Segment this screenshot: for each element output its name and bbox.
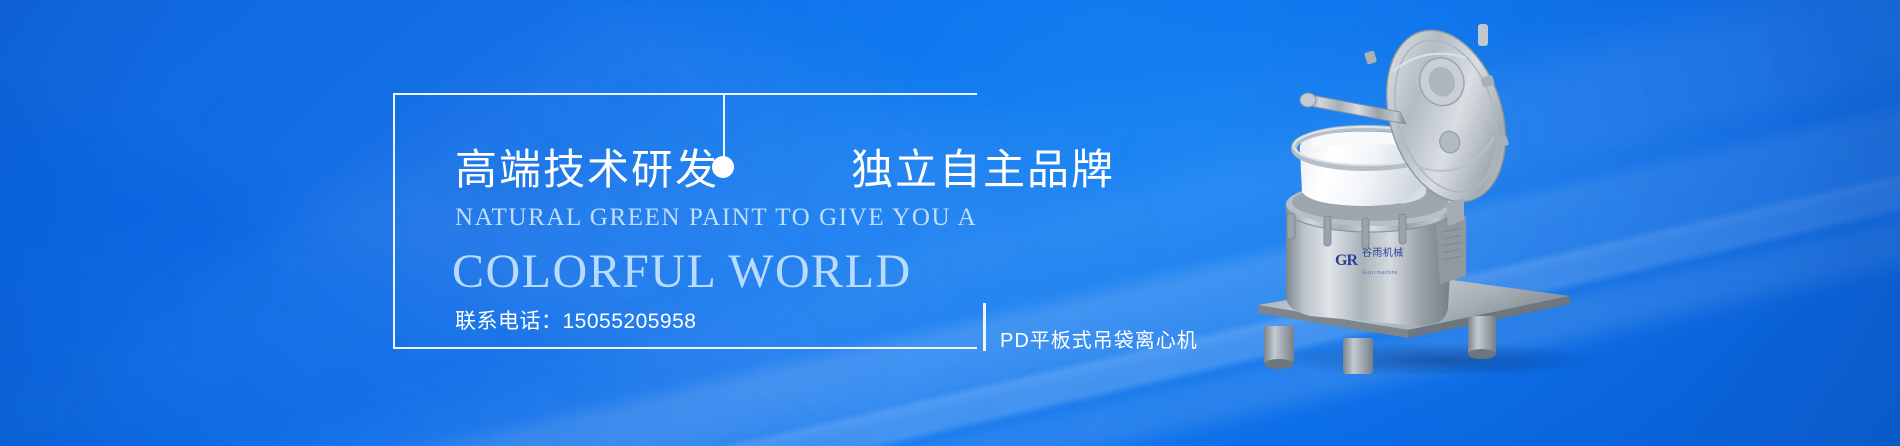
brand-name-cn: 谷雨机械 <box>1362 248 1404 259</box>
brand-name-en: Guyu machine <box>1362 270 1398 276</box>
brand-mark-text: GR <box>1335 253 1357 269</box>
banner-subtitle-line2: COLORFUL WORLD <box>452 244 912 299</box>
machine-brand-badge: GR 谷雨机械 Guyu machine <box>1335 248 1427 274</box>
banner-headline: 高端技术研发独立自主品牌 <box>455 136 1115 197</box>
product-image-centrifuge <box>1250 8 1650 374</box>
headline-left-text: 高端技术研发 <box>455 146 719 193</box>
caption-divider-icon <box>983 303 986 351</box>
contact-phone-text: 联系电话：15055205958 <box>455 305 696 335</box>
headline-right-text: 独立自主品牌 <box>851 146 1115 193</box>
hero-banner: 高端技术研发独立自主品牌 NATURAL GREEN PAINT TO GIVE… <box>0 0 1900 446</box>
product-caption-text: PD平板式吊袋离心机 <box>1000 324 1198 353</box>
brand-name-group: 谷雨机械 Guyu machine <box>1362 243 1404 279</box>
banner-subtitle-line1: NATURAL GREEN PAINT TO GIVE YOU A <box>455 204 977 232</box>
